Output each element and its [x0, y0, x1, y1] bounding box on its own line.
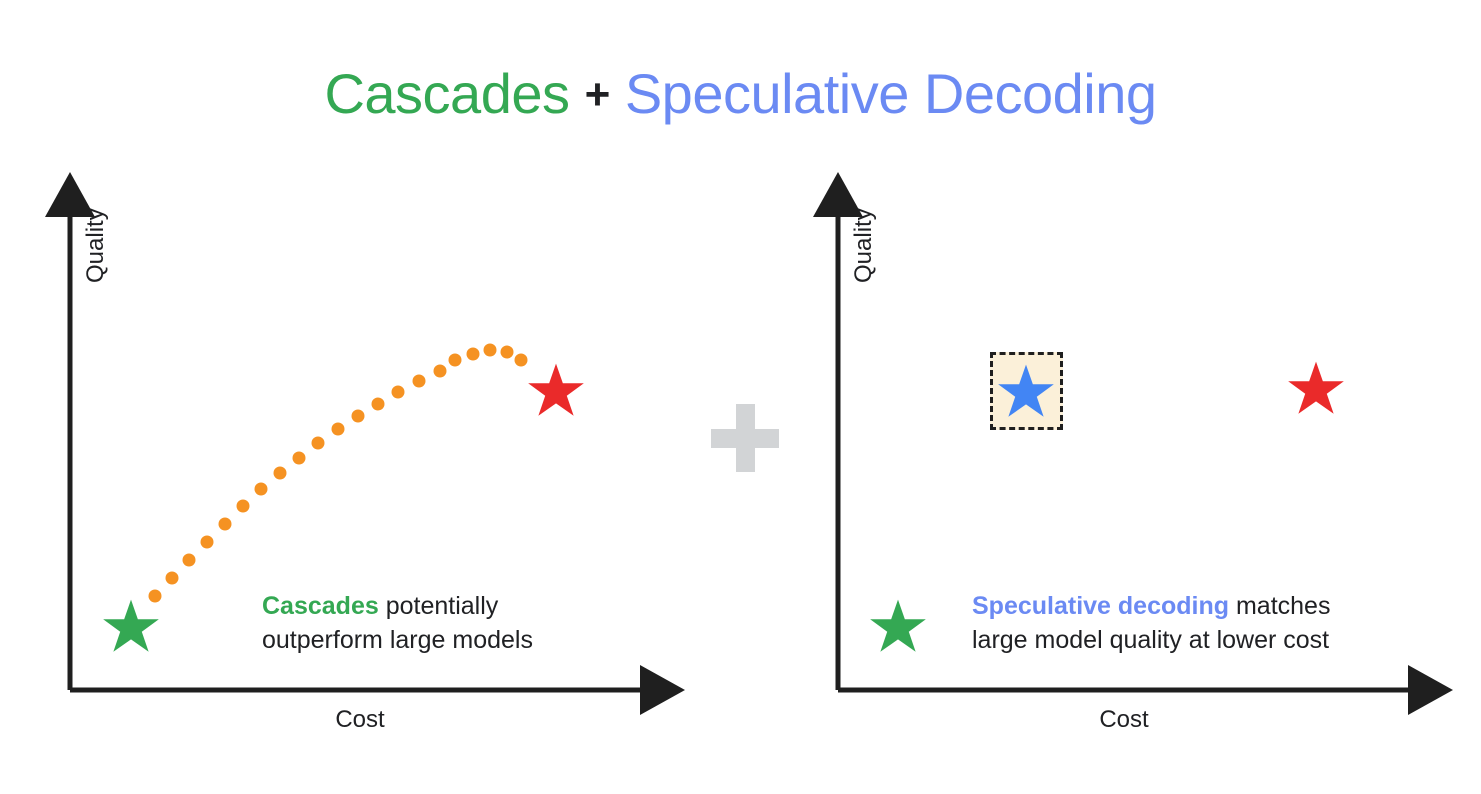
right-x-axis-label: Cost: [1064, 706, 1184, 734]
plus-vertical-bar: [736, 404, 755, 472]
red-star-large-model: [1287, 360, 1345, 416]
left-caption: Cascades potentially outperform large mo…: [262, 590, 533, 657]
left-caption-rest: potentially: [379, 592, 499, 620]
right-caption-line2: large model quality at lower cost: [972, 624, 1330, 658]
left-caption-lead: Cascades: [262, 592, 379, 620]
right-y-axis-label: Quality: [850, 208, 878, 283]
left-y-axis-label: Quality: [82, 208, 110, 283]
blue-star-speculative-decoding: [997, 363, 1055, 419]
green-star-small-model: [102, 598, 160, 654]
right-caption-rest: matches: [1229, 592, 1330, 620]
red-star-large-model: [527, 362, 585, 418]
right-caption: Speculative decoding matches large model…: [972, 590, 1330, 657]
left-caption-line1: Cascades potentially: [262, 590, 533, 624]
left-caption-line2: outperform large models: [262, 624, 533, 658]
right-caption-lead: Speculative decoding: [972, 592, 1229, 620]
right-chart-axes: [768, 0, 1481, 794]
right-caption-line1: Speculative decoding matches: [972, 590, 1330, 624]
green-star-small-model: [869, 598, 927, 654]
figure-canvas: Cascades + Speculative Decoding: [0, 0, 1481, 794]
cascades-chart-panel: Quality Cost Cascades potentially outper…: [0, 0, 740, 794]
speculative-decoding-chart-panel: Quality Cost Speculative decoding matche…: [768, 0, 1481, 794]
left-chart-axes: [0, 0, 740, 794]
left-x-axis-label: Cost: [300, 706, 420, 734]
